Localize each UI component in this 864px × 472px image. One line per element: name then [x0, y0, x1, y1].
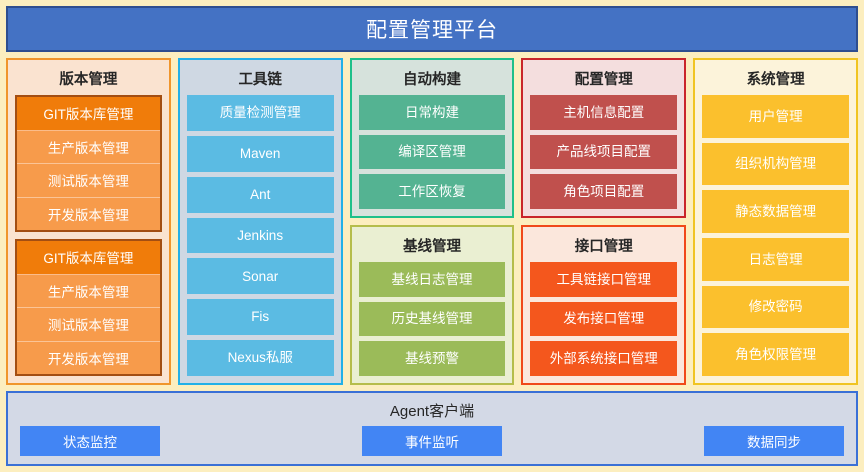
panel-toolchain: 工具链 质量检测管理 Maven Ant Jenkins Sonar Fis N… — [178, 58, 343, 385]
toolchain-item-ant[interactable]: Ant — [187, 177, 334, 213]
column-config-interface: 配置管理 主机信息配置 产品线项目配置 角色项目配置 接口管理 工具链接口管理 … — [521, 58, 686, 385]
panel-system-management: 系统管理 用户管理 组织机构管理 静态数据管理 日志管理 修改密码 角色权限管理 — [693, 58, 858, 385]
panel-interface-management: 接口管理 工具链接口管理 发布接口管理 外部系统接口管理 — [521, 225, 686, 385]
config-item-list: 主机信息配置 产品线项目配置 角色项目配置 — [530, 95, 677, 209]
toolchain-item-nexus[interactable]: Nexus私服 — [187, 340, 334, 376]
column-toolchain: 工具链 质量检测管理 Maven Ant Jenkins Sonar Fis N… — [178, 58, 343, 385]
system-item-list: 用户管理 组织机构管理 静态数据管理 日志管理 修改密码 角色权限管理 — [702, 95, 849, 376]
panel-title-system-management: 系统管理 — [702, 65, 849, 95]
toolchain-item-sonar[interactable]: Sonar — [187, 258, 334, 294]
auto-build-item-daily[interactable]: 日常构建 — [359, 95, 506, 130]
agent-status-monitor-button[interactable]: 状态监控 — [20, 426, 160, 456]
baseline-item-list: 基线日志管理 历史基线管理 基线预警 — [359, 262, 506, 376]
version-group-list: GIT版本库管理 生产版本管理 测试版本管理 开发版本管理 GIT版本库管理 生… — [15, 95, 162, 376]
version-group-1-item-2[interactable]: 测试版本管理 — [17, 164, 160, 198]
toolchain-item-maven[interactable]: Maven — [187, 136, 334, 172]
toolchain-item-jenkins[interactable]: Jenkins — [187, 218, 334, 254]
auto-build-item-list: 日常构建 编译区管理 工作区恢复 — [359, 95, 506, 209]
panel-title-interface-management: 接口管理 — [530, 232, 677, 262]
panel-auto-build: 自动构建 日常构建 编译区管理 工作区恢复 — [350, 58, 515, 218]
panel-title-auto-build: 自动构建 — [359, 65, 506, 95]
toolchain-item-fis[interactable]: Fis — [187, 299, 334, 335]
column-system-management: 系统管理 用户管理 组织机构管理 静态数据管理 日志管理 修改密码 角色权限管理 — [693, 58, 858, 385]
version-group-1-item-1[interactable]: 生产版本管理 — [17, 131, 160, 165]
panel-title-version-management: 版本管理 — [15, 65, 162, 95]
version-group-1-header[interactable]: GIT版本库管理 — [17, 97, 160, 131]
config-item-product-line[interactable]: 产品线项目配置 — [530, 135, 677, 170]
version-group-2-item-2[interactable]: 测试版本管理 — [17, 308, 160, 342]
baseline-item-history[interactable]: 历史基线管理 — [359, 302, 506, 337]
column-build-baseline: 自动构建 日常构建 编译区管理 工作区恢复 基线管理 基线日志管理 历史基线管理… — [350, 58, 515, 385]
system-item-log[interactable]: 日志管理 — [702, 238, 849, 281]
config-item-role-project[interactable]: 角色项目配置 — [530, 174, 677, 209]
agent-client-title: Agent客户端 — [20, 398, 844, 426]
interface-item-external-system[interactable]: 外部系统接口管理 — [530, 341, 677, 376]
column-version-management: 版本管理 GIT版本库管理 生产版本管理 测试版本管理 开发版本管理 GIT版本… — [6, 58, 171, 385]
system-item-organization[interactable]: 组织机构管理 — [702, 143, 849, 186]
version-group-2-item-3[interactable]: 开发版本管理 — [17, 342, 160, 375]
auto-build-item-workspace-restore[interactable]: 工作区恢复 — [359, 174, 506, 209]
agent-button-row: 状态监控 事件监听 数据同步 — [20, 426, 844, 456]
system-item-role-permission[interactable]: 角色权限管理 — [702, 333, 849, 376]
config-item-host-info[interactable]: 主机信息配置 — [530, 95, 677, 130]
interface-item-list: 工具链接口管理 发布接口管理 外部系统接口管理 — [530, 262, 677, 376]
toolchain-item-quality[interactable]: 质量检测管理 — [187, 95, 334, 131]
agent-event-listener-button[interactable]: 事件监听 — [362, 426, 502, 456]
version-group-1: GIT版本库管理 生产版本管理 测试版本管理 开发版本管理 — [15, 95, 162, 232]
version-group-1-item-3[interactable]: 开发版本管理 — [17, 198, 160, 231]
page-title: 配置管理平台 — [366, 14, 498, 44]
interface-item-release[interactable]: 发布接口管理 — [530, 302, 677, 337]
system-item-static-data[interactable]: 静态数据管理 — [702, 190, 849, 233]
modules-grid: 版本管理 GIT版本库管理 生产版本管理 测试版本管理 开发版本管理 GIT版本… — [6, 58, 858, 385]
baseline-item-log[interactable]: 基线日志管理 — [359, 262, 506, 297]
panel-version-management: 版本管理 GIT版本库管理 生产版本管理 测试版本管理 开发版本管理 GIT版本… — [6, 58, 171, 385]
interface-item-toolchain[interactable]: 工具链接口管理 — [530, 262, 677, 297]
panel-config-management: 配置管理 主机信息配置 产品线项目配置 角色项目配置 — [521, 58, 686, 218]
version-group-2-header[interactable]: GIT版本库管理 — [17, 241, 160, 275]
page-title-bar: 配置管理平台 — [6, 6, 858, 52]
baseline-item-alert[interactable]: 基线预警 — [359, 341, 506, 376]
panel-title-toolchain: 工具链 — [187, 65, 334, 95]
version-group-2-item-1[interactable]: 生产版本管理 — [17, 275, 160, 309]
system-item-change-password[interactable]: 修改密码 — [702, 286, 849, 329]
panel-title-baseline-management: 基线管理 — [359, 232, 506, 262]
agent-client-bar: Agent客户端 状态监控 事件监听 数据同步 — [6, 391, 858, 466]
system-item-user[interactable]: 用户管理 — [702, 95, 849, 138]
version-group-2: GIT版本库管理 生产版本管理 测试版本管理 开发版本管理 — [15, 239, 162, 376]
panel-baseline-management: 基线管理 基线日志管理 历史基线管理 基线预警 — [350, 225, 515, 385]
agent-data-sync-button[interactable]: 数据同步 — [704, 426, 844, 456]
toolchain-item-list: 质量检测管理 Maven Ant Jenkins Sonar Fis Nexus… — [187, 95, 334, 376]
auto-build-item-compile-area[interactable]: 编译区管理 — [359, 135, 506, 170]
panel-title-config-management: 配置管理 — [530, 65, 677, 95]
